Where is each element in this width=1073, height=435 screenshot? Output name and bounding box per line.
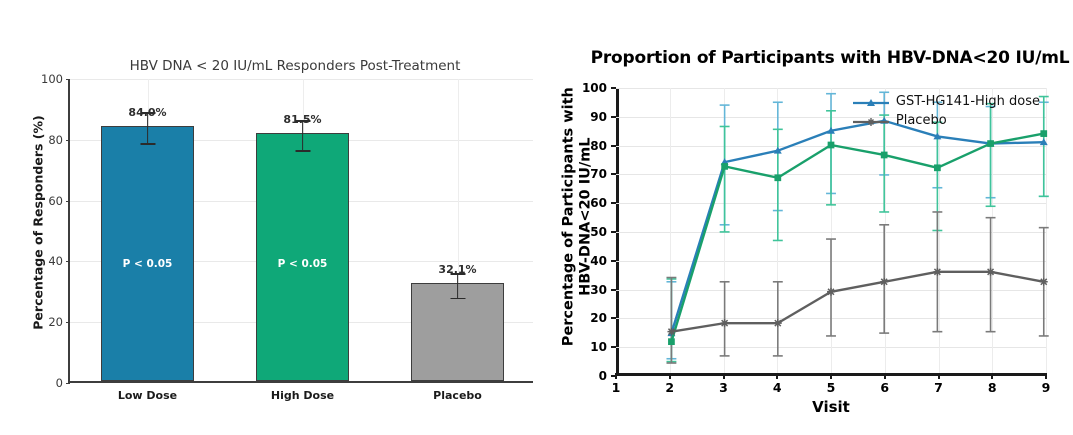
- bar-error-bar-cap: [450, 298, 465, 300]
- bar-chart-y-tick-mark: [66, 322, 70, 323]
- bar-error-bar: [457, 273, 459, 297]
- marker-gst-hg141-low-dose: [881, 152, 888, 159]
- marker-placebo: [880, 278, 888, 286]
- line-chart-y-tick-label: 100: [582, 81, 607, 95]
- marker-placebo: [1040, 278, 1048, 286]
- bar-chart-title: HBV DNA < 20 IU/mL Responders Post-Treat…: [60, 58, 530, 74]
- line-chart-x-tick-label: 9: [1042, 380, 1051, 395]
- line-chart-y-tick-label: 10: [590, 340, 607, 354]
- line-chart-x-tick-mark: [830, 373, 832, 379]
- line-chart-title: Proportion of Participants with HBV-DNA<…: [580, 48, 1073, 68]
- bar-chart-panel: HBV DNA < 20 IU/mL Responders Post-Treat…: [0, 0, 550, 435]
- line-chart-series-layer: [616, 88, 1046, 373]
- line-chart-x-tick-label: 2: [665, 380, 674, 395]
- line-chart-y-tick-label: 80: [590, 139, 607, 153]
- legend-swatch-icon: [853, 114, 889, 128]
- bar-chart-y-tick-label: 0: [56, 376, 63, 390]
- line-chart-x-tick-label: 7: [934, 380, 943, 395]
- bar-chart-gridline: [70, 79, 533, 80]
- bar-chart-y-tick-label: 40: [48, 254, 63, 268]
- bar-chart-y-tick-label: 80: [48, 133, 63, 147]
- bar-chart-y-tick-label: 60: [48, 194, 63, 208]
- bar-error-bar-cap: [295, 150, 310, 152]
- line-chart-legend: GST-HG141-High dosePlacebo: [853, 92, 1040, 130]
- legend-label: GST-HG141-High dose: [896, 94, 1040, 109]
- line-chart-y-tick-label: 50: [590, 225, 607, 239]
- line-chart-x-tick-label: 3: [719, 380, 728, 395]
- line-chart-x-tick-mark: [991, 373, 993, 379]
- line-chart-x-tick-mark: [723, 373, 725, 379]
- line-chart-y-tick-label: 0: [599, 369, 607, 383]
- line-chart-y-tick-label: 40: [590, 254, 607, 268]
- legend-swatch-icon: [853, 95, 889, 109]
- marker-gst-hg141-low-dose: [721, 163, 728, 170]
- series-line-gst-hg141-high-dose: [671, 121, 1043, 333]
- line-chart-y-tick-label: 70: [590, 167, 607, 181]
- legend-item[interactable]: Placebo: [853, 111, 1040, 130]
- marker-placebo: [721, 319, 729, 327]
- bar-chart-x-tick-label: Placebo: [433, 389, 482, 402]
- line-chart-x-tick-mark: [669, 373, 671, 379]
- line-chart-x-tick-label: 8: [988, 380, 997, 395]
- bar-chart-y-axis-label: Percentage of Responders (%): [31, 93, 46, 353]
- marker-gst-hg141-low-dose: [934, 164, 941, 171]
- bar-chart-y-tick-mark: [66, 140, 70, 141]
- marker-gst-hg141-low-dose: [668, 338, 675, 345]
- bar-chart-y-tick-label: 100: [41, 72, 63, 86]
- marker-placebo: [933, 268, 941, 276]
- line-chart-x-tick-mark: [938, 373, 940, 379]
- line-chart-y-tick-label: 30: [590, 283, 607, 297]
- two-panel-figure: HBV DNA < 20 IU/mL Responders Post-Treat…: [0, 0, 1073, 435]
- bar-pvalue-annotation: P < 0.05: [123, 258, 173, 270]
- bar-error-bar-cap: [140, 143, 155, 145]
- marker-placebo: [774, 319, 782, 327]
- line-chart-x-tick-mark: [884, 373, 886, 379]
- marker-placebo: [987, 268, 995, 276]
- bar-value-label: 81.5%: [283, 113, 321, 126]
- bar-chart-x-tick-label: Low Dose: [118, 389, 177, 402]
- line-chart-y-tick-label: 90: [590, 110, 607, 124]
- line-chart-panel: Proportion of Participants with HBV-DNA<…: [550, 0, 1073, 435]
- legend-label: Placebo: [896, 113, 947, 128]
- line-chart-x-tick-mark: [615, 373, 617, 379]
- bar-pvalue-annotation: P < 0.05: [278, 258, 328, 270]
- line-chart-plot-area: 0102030405060708090100123456789GST-HG141…: [616, 88, 1046, 376]
- line-chart-x-tick-label: 5: [827, 380, 836, 395]
- bar-chart-y-tick-mark: [66, 383, 70, 384]
- bar-chart-plot-area: 02040608010084.0%P < 0.05Low Dose81.5%P …: [68, 79, 533, 383]
- marker-placebo: [827, 288, 835, 296]
- line-chart-y-axis-label: Percentage of Participants with HBV-DNA<…: [560, 67, 593, 367]
- bar-low-dose[interactable]: [101, 126, 194, 381]
- line-chart-x-axis-label: Visit: [616, 398, 1046, 416]
- marker-gst-hg141-low-dose: [987, 140, 994, 147]
- line-chart-x-tick-mark: [776, 373, 778, 379]
- bar-chart-y-tick-mark: [66, 201, 70, 202]
- line-chart-x-tick-label: 1: [612, 380, 621, 395]
- error-bars-gst-hg141-high-dose: [666, 92, 1048, 358]
- line-chart-y-tick-label: 60: [590, 196, 607, 210]
- bar-value-label: 32.1%: [438, 263, 476, 276]
- legend-item[interactable]: GST-HG141-High dose: [853, 92, 1040, 111]
- bar-chart-y-tick-mark: [66, 79, 70, 80]
- bar-chart-x-tick-label: High Dose: [271, 389, 334, 402]
- marker-gst-hg141-low-dose: [1040, 130, 1047, 137]
- line-chart-x-tick-mark: [1045, 373, 1047, 379]
- marker-placebo: [667, 328, 675, 336]
- marker-gst-hg141-low-dose: [828, 142, 835, 149]
- bar-chart-y-tick-mark: [66, 261, 70, 262]
- bar-high-dose[interactable]: [256, 133, 349, 381]
- line-chart-y-tick-label: 20: [590, 311, 607, 325]
- line-chart-y-axis-label-line1: Percentage of Participants with: [560, 67, 577, 367]
- bar-value-label: 84.0%: [128, 106, 166, 119]
- marker-gst-hg141-low-dose: [774, 174, 781, 181]
- bar-chart-y-tick-label: 20: [48, 315, 63, 329]
- line-chart-x-tick-label: 4: [773, 380, 782, 395]
- line-chart-x-tick-label: 6: [880, 380, 889, 395]
